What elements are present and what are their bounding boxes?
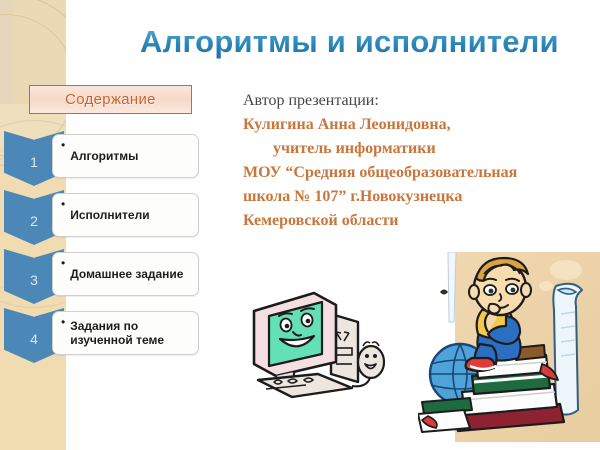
list-item[interactable]: 3 • Домашнее задание [0, 249, 210, 304]
bullet-icon: • [61, 138, 65, 152]
author-name: Кулигина Анна Леонидовна, [243, 113, 583, 137]
bullet-icon: • [61, 197, 65, 211]
list-item[interactable]: 1 • Алгоритмы [0, 131, 210, 186]
chevron-number: 1 [30, 148, 38, 170]
list-item-box-4[interactable]: • Задания по изученной теме [52, 311, 199, 355]
chevron-number: 2 [30, 207, 38, 229]
list-item-box-1[interactable]: • Алгоритмы [52, 134, 199, 178]
author-role: учитель информатики [243, 137, 583, 161]
list-item-label: Исполнители [70, 208, 149, 222]
author-information: Автор презентации: Кулигина Анна Леонидо… [243, 88, 583, 233]
chevron-number: 4 [30, 325, 38, 347]
school-name-line-1: МОУ “Средняя общеобразовательная [243, 161, 583, 185]
list-item-label: Домашнее задание [70, 267, 183, 281]
table-of-contents-header: Содержание [29, 85, 192, 114]
list-item[interactable]: 2 • Исполнители [0, 190, 210, 245]
boy-on-books-illustration [418, 252, 600, 442]
author-intro-label: Автор презентации: [243, 88, 583, 113]
page-title: Алгоритмы и исполнители [140, 22, 590, 62]
presentation-slide: Алгоритмы и исполнители Содержание 1 • А… [0, 0, 600, 450]
table-of-contents-list: 1 • Алгоритмы 2 • Исполнители 3 • Домашн… [0, 131, 210, 367]
chevron-number: 3 [30, 266, 38, 288]
list-item-box-2[interactable]: • Исполнители [52, 193, 199, 237]
list-item-label: Задания по изученной теме [70, 319, 192, 347]
school-name-line-2: школа № 107” г.Новокузнецка [243, 185, 583, 209]
bullet-icon: • [61, 315, 65, 329]
list-item-label: Алгоритмы [70, 149, 138, 163]
list-item-box-3[interactable]: • Домашнее задание [52, 252, 199, 296]
toc-header-label: Содержание [65, 91, 156, 108]
region-name: Кемеровской области [243, 209, 583, 233]
smiling-computer-icon [236, 276, 396, 408]
bullet-icon: • [61, 256, 65, 270]
list-item[interactable]: 4 • Задания по изученной теме [0, 308, 210, 363]
